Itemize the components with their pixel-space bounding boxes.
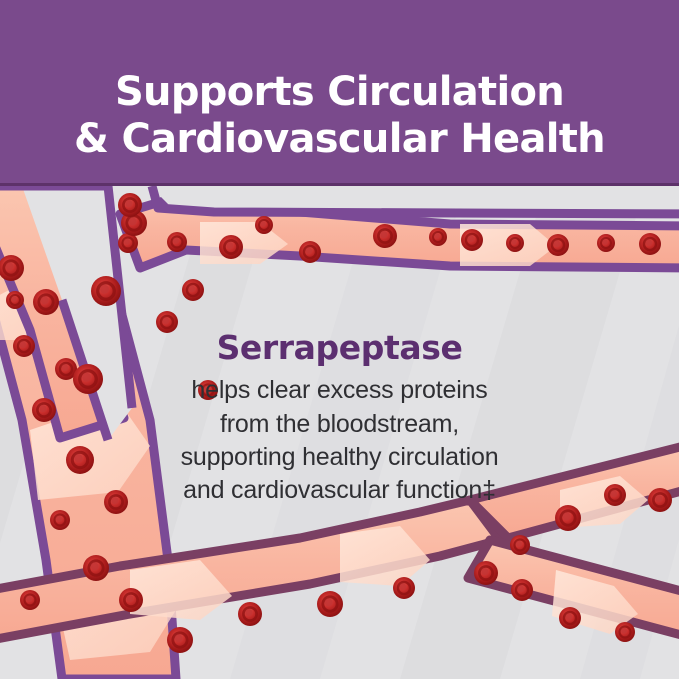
blood-cell [238,602,262,626]
blood-cell [219,235,243,259]
blood-cell [198,380,218,400]
blood-cell [510,535,530,555]
vessel-top-stub [150,186,679,214]
blood-cell [119,588,143,612]
blood-cell [156,311,178,333]
page-title-line-1: Supports Circulation [115,69,564,116]
blood-cell [639,233,661,255]
blood-cell [91,276,121,306]
blood-cell [167,232,187,252]
blood-cell [50,510,70,530]
blood-cell [118,233,138,253]
blood-cell [615,622,635,642]
blood-cell [474,561,498,585]
blood-cell [604,484,626,506]
blood-cell [559,607,581,629]
blood-cell [547,234,569,256]
blood-cell [33,289,59,315]
blood-cell [461,229,483,251]
blood-cell [255,216,273,234]
page-title-line-2: & Cardiovascular Health [74,116,605,163]
header-band: Supports Circulation & Cardiovascular He… [0,0,679,186]
blood-cell [182,279,204,301]
blood-cell [104,490,128,514]
blood-cell [597,234,615,252]
blood-cell [32,398,56,422]
infographic-panel: Supports Circulation & Cardiovascular He… [0,0,679,679]
blood-cell [299,241,321,263]
blood-cell [429,228,447,246]
blood-cell [83,555,109,581]
blood-cell [73,364,103,394]
blood-cell [167,627,193,653]
blood-cell [118,193,142,217]
blood-cell [20,590,40,610]
blood-cell [373,224,397,248]
blood-cell [66,446,94,474]
blood-cell [6,291,24,309]
blood-cell [317,591,343,617]
blood-cell [648,488,672,512]
blood-cell [13,335,35,357]
blood-cell [555,505,581,531]
blood-cell [511,579,533,601]
blood-cell [393,577,415,599]
blood-cell [506,234,524,252]
